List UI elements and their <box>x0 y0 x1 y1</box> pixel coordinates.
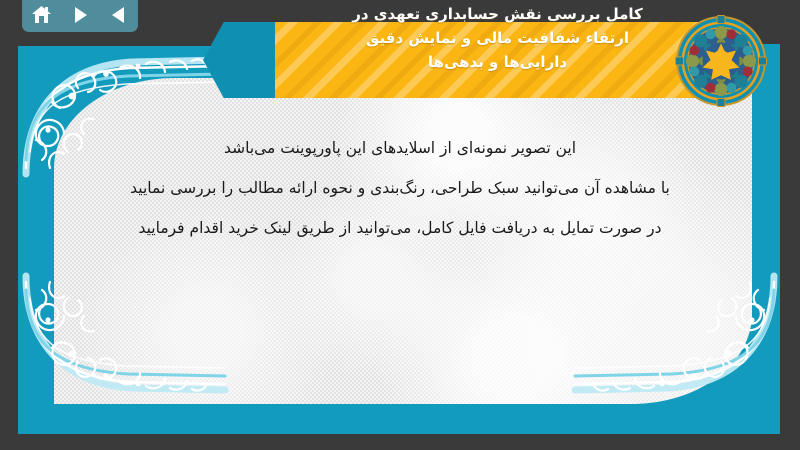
home-icon <box>31 5 52 25</box>
triangle-left-icon <box>110 6 127 24</box>
triangle-right-icon <box>72 6 89 24</box>
persian-medallion-emblem <box>674 14 768 108</box>
navigation-toolbar[interactable] <box>22 0 138 32</box>
body-line-2: با مشاهده آن می‌توانید سبک طراحی، رنگ‌بن… <box>60 168 740 208</box>
home-button[interactable] <box>26 2 56 28</box>
slide-title: کامل بررسی نقش حسابداری تعهدی در ارتقاء … <box>275 2 720 74</box>
slide-body-text: این تصویر نمونه‌ای از اسلایدهای این پاور… <box>60 128 740 248</box>
forward-button[interactable] <box>65 2 95 28</box>
body-line-1: این تصویر نمونه‌ای از اسلایدهای این پاور… <box>60 128 740 168</box>
body-line-3: در صورت تمایل به دریافت فایل کامل، می‌تو… <box>60 208 740 248</box>
title-banner: کامل بررسی نقش حسابداری تعهدی در ارتقاء … <box>275 22 720 98</box>
back-button[interactable] <box>104 2 134 28</box>
slide-preview-stage: این تصویر نمونه‌ای از اسلایدهای این پاور… <box>0 0 800 450</box>
